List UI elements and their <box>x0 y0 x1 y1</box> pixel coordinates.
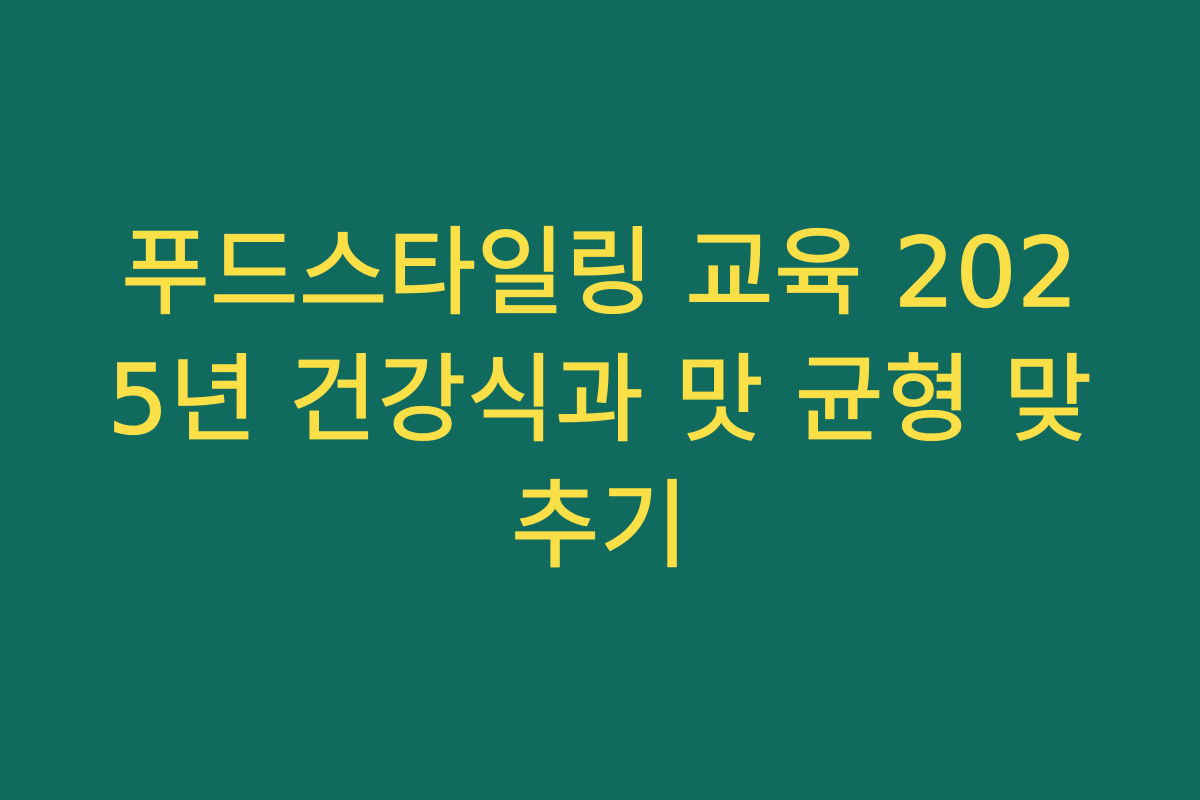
headline-block: 푸드스타일링 교육 2025년 건강식과 맛 균형 맞추기 <box>100 210 1100 590</box>
banner-card: 푸드스타일링 교육 2025년 건강식과 맛 균형 맞추기 <box>0 0 1200 800</box>
page-title: 푸드스타일링 교육 2025년 건강식과 맛 균형 맞추기 <box>100 210 1100 590</box>
